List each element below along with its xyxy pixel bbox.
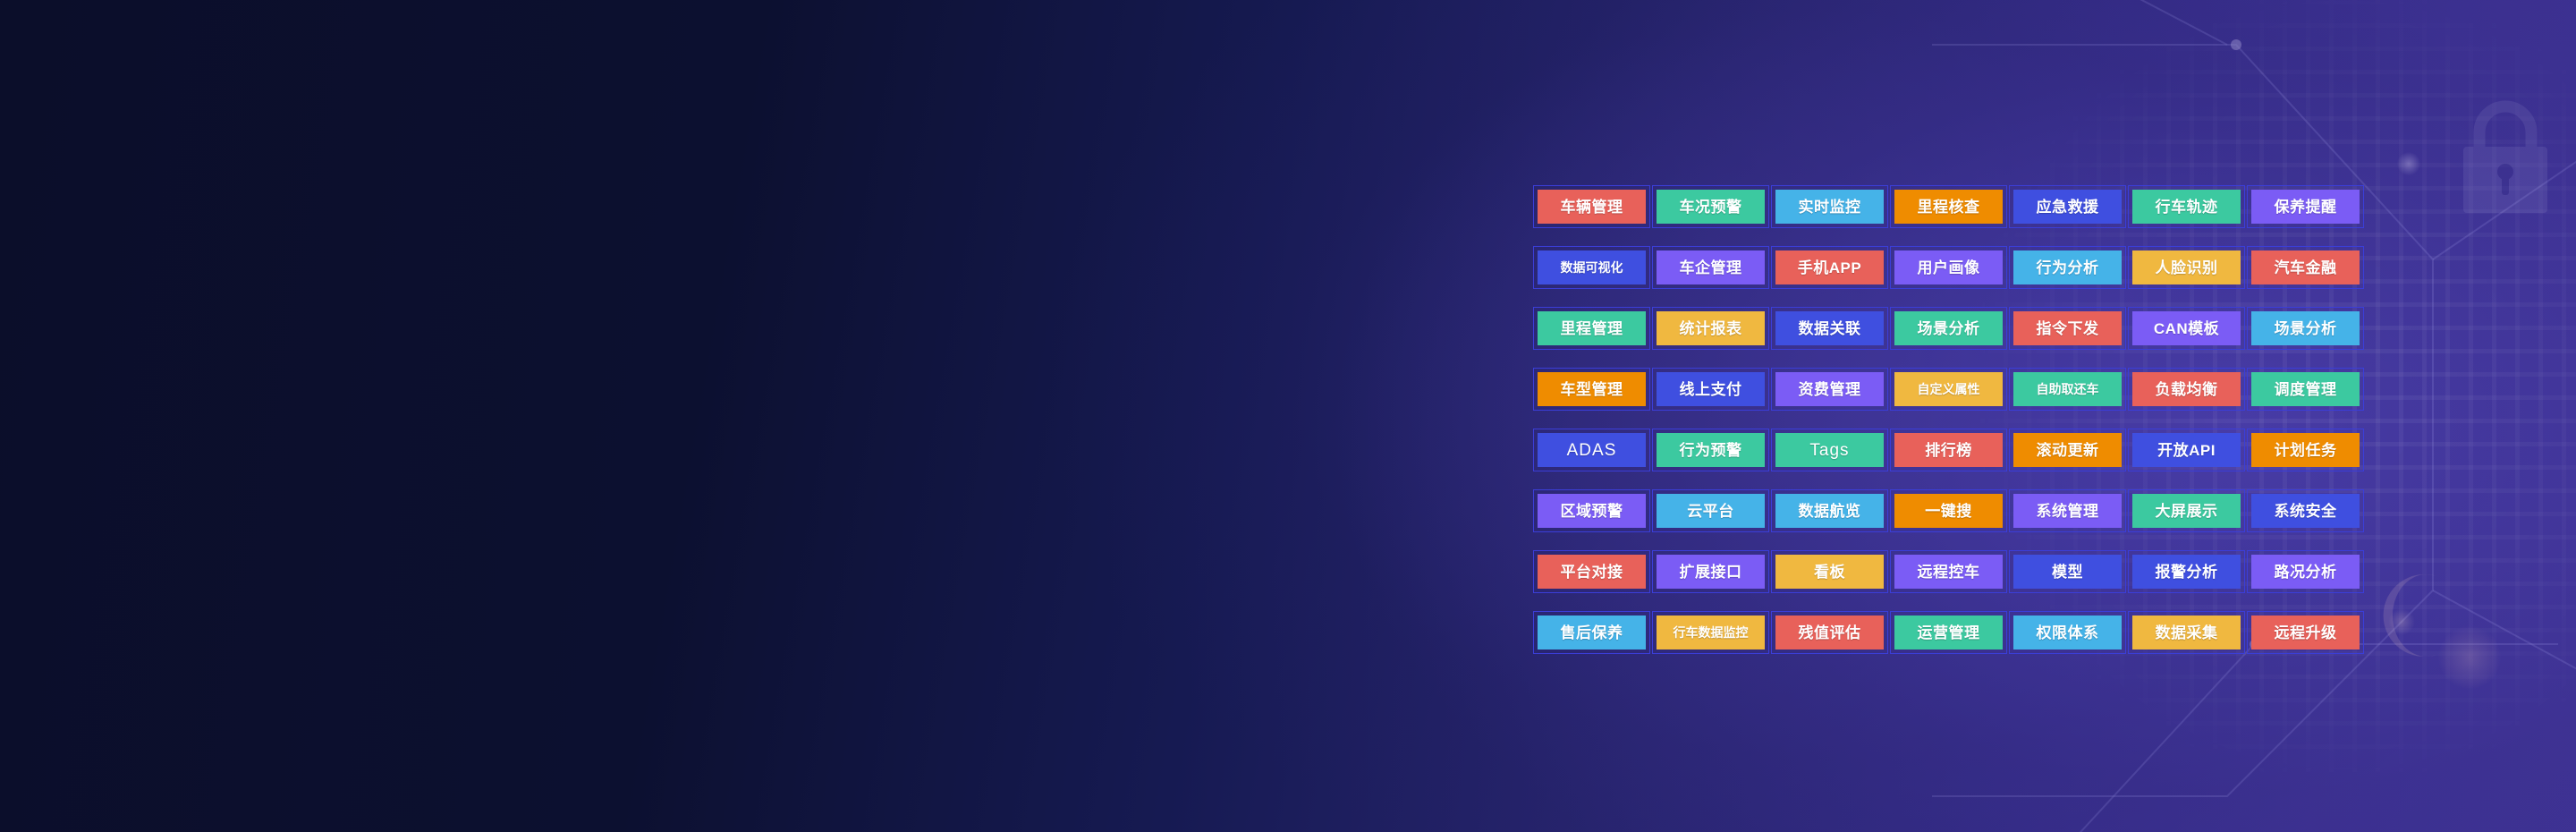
feature-tag[interactable]: 用户画像 [1890, 246, 2007, 289]
feature-tag-label: 应急救援 [2013, 190, 2122, 224]
feature-tag-label: 资费管理 [1775, 372, 1884, 406]
feature-tag[interactable]: 开放API [2128, 429, 2245, 471]
feature-tag[interactable]: 人脸识别 [2128, 246, 2245, 289]
feature-tag[interactable]: 行车数据监控 [1652, 611, 1769, 654]
feature-tag[interactable]: 车企管理 [1652, 246, 1769, 289]
feature-tag[interactable]: 系统安全 [2247, 489, 2364, 532]
feature-tag[interactable]: 扩展接口 [1652, 550, 1769, 593]
feature-tag[interactable]: 报警分析 [2128, 550, 2245, 593]
feature-tag-label: 行为预警 [1657, 433, 1765, 467]
feature-tag-label: 报警分析 [2132, 555, 2241, 589]
feature-tag-label: 数据关联 [1775, 311, 1884, 345]
feature-tag[interactable]: 指令下发 [2009, 307, 2126, 350]
feature-tag[interactable]: 一键搜 [1890, 489, 2007, 532]
feature-tag[interactable]: 行为预警 [1652, 429, 1769, 471]
feature-tag-label: 场景分析 [1894, 311, 2003, 345]
feature-tag[interactable]: 场景分析 [2247, 307, 2364, 350]
feature-tag-label: 平台对接 [1538, 555, 1646, 589]
feature-tag[interactable]: 系统管理 [2009, 489, 2126, 532]
feature-tag[interactable]: 负载均衡 [2128, 368, 2245, 411]
feature-tag-label: 计划任务 [2251, 433, 2360, 467]
feature-tag-label: 开放API [2132, 433, 2241, 467]
feature-tag[interactable]: 权限体系 [2009, 611, 2126, 654]
feature-tag-label: 大屏展示 [2132, 494, 2241, 528]
feature-tag[interactable]: 售后保养 [1533, 611, 1650, 654]
feature-tag[interactable]: 行车轨迹 [2128, 185, 2245, 228]
feature-tag-label: 场景分析 [2251, 311, 2360, 345]
feature-tag-label: 车辆管理 [1538, 190, 1646, 224]
feature-tag[interactable]: 看板 [1771, 550, 1888, 593]
glow-spot-small [2388, 608, 2415, 635]
feature-tag[interactable]: 场景分析 [1890, 307, 2007, 350]
feature-tag-label: 用户画像 [1894, 250, 2003, 284]
feature-tag[interactable]: 车辆管理 [1533, 185, 1650, 228]
feature-tag[interactable]: 实时监控 [1771, 185, 1888, 228]
feature-tag-label: 手机APP [1775, 250, 1884, 284]
feature-tag-label: 指令下发 [2013, 311, 2122, 345]
crescent-moon-icon [2381, 573, 2458, 658]
feature-tag-label: 数据采集 [2132, 616, 2241, 649]
feature-tag[interactable]: 区域预警 [1533, 489, 1650, 532]
feature-tag-label: CAN模板 [2132, 311, 2241, 345]
feature-tag[interactable]: 汽车金融 [2247, 246, 2364, 289]
feature-tag-label: 数据航览 [1775, 494, 1884, 528]
feature-tag[interactable]: 保养提醒 [2247, 185, 2364, 228]
feature-tag[interactable]: 资费管理 [1771, 368, 1888, 411]
feature-tag[interactable]: 调度管理 [2247, 368, 2364, 411]
feature-tag-label: 调度管理 [2251, 372, 2360, 406]
feature-tag[interactable]: 运营管理 [1890, 611, 2007, 654]
feature-tag-label: Tags [1775, 433, 1884, 467]
feature-tag-label: 售后保养 [1538, 616, 1646, 649]
feature-tag-label: 云平台 [1657, 494, 1765, 528]
feature-tag[interactable]: 行为分析 [2009, 246, 2126, 289]
feature-tag-label: 汽车金融 [2251, 250, 2360, 284]
feature-tag-label: 区域预警 [1538, 494, 1646, 528]
feature-tag-label: 自助取还车 [2013, 372, 2122, 406]
feature-tag[interactable]: CAN模板 [2128, 307, 2245, 350]
feature-tag[interactable]: 手机APP [1771, 246, 1888, 289]
feature-tag[interactable]: 远程升级 [2247, 611, 2364, 654]
feature-tag[interactable]: 计划任务 [2247, 429, 2364, 471]
feature-tag-label: 看板 [1775, 555, 1884, 589]
feature-tag-label: 里程核查 [1894, 190, 2003, 224]
feature-tag-label: 排行榜 [1894, 433, 2003, 467]
feature-tag-label: 一键搜 [1894, 494, 2003, 528]
feature-tag-label: 负载均衡 [2132, 372, 2241, 406]
feature-tag-label: 里程管理 [1538, 311, 1646, 345]
feature-tag[interactable]: 数据航览 [1771, 489, 1888, 532]
screen-canvas: 车辆管理车况预警实时监控里程核查应急救援行车轨迹保养提醒数据可视化车企管理手机A… [0, 0, 2576, 832]
feature-tag[interactable]: ADAS [1533, 429, 1650, 471]
feature-tag[interactable]: 数据采集 [2128, 611, 2245, 654]
feature-tag-label: 车企管理 [1657, 250, 1765, 284]
feature-tag-label: 扩展接口 [1657, 555, 1765, 589]
feature-tag[interactable]: 滚动更新 [2009, 429, 2126, 471]
feature-tag-label: 运营管理 [1894, 616, 2003, 649]
feature-tag[interactable]: 排行榜 [1890, 429, 2007, 471]
feature-tag[interactable]: 远程控车 [1890, 550, 2007, 593]
feature-tag-label: 系统安全 [2251, 494, 2360, 528]
feature-tag-label: 实时监控 [1775, 190, 1884, 224]
feature-tag-label: 系统管理 [2013, 494, 2122, 528]
feature-tag[interactable]: 里程管理 [1533, 307, 1650, 350]
feature-tag[interactable]: 里程核查 [1890, 185, 2007, 228]
feature-tag[interactable]: 应急救援 [2009, 185, 2126, 228]
feature-tag[interactable]: 模型 [2009, 550, 2126, 593]
feature-tag[interactable]: Tags [1771, 429, 1888, 471]
feature-tag[interactable]: 路况分析 [2247, 550, 2364, 593]
feature-tag[interactable]: 数据可视化 [1533, 246, 1650, 289]
feature-tag-label: 行车轨迹 [2132, 190, 2241, 224]
feature-tag-label: 车型管理 [1538, 372, 1646, 406]
feature-tag-label: 人脸识别 [2132, 250, 2241, 284]
lock-icon [2453, 93, 2558, 220]
feature-tag-label: 行车数据监控 [1657, 616, 1765, 649]
feature-tag-label: 远程控车 [1894, 555, 2003, 589]
glow-spot-top [2397, 152, 2420, 175]
feature-tag[interactable]: 自定义属性 [1890, 368, 2007, 411]
glow-spot-bottom [2438, 626, 2501, 689]
feature-tag-label: 车况预警 [1657, 190, 1765, 224]
feature-tag[interactable]: 大屏展示 [2128, 489, 2245, 532]
feature-tag[interactable]: 统计报表 [1652, 307, 1769, 350]
feature-tag-label: 保养提醒 [2251, 190, 2360, 224]
feature-tag[interactable]: 自助取还车 [2009, 368, 2126, 411]
feature-tag-label: 路况分析 [2251, 555, 2360, 589]
feature-tag-label: 模型 [2013, 555, 2122, 589]
feature-tag[interactable]: 数据关联 [1771, 307, 1888, 350]
feature-tag-label: 数据可视化 [1538, 250, 1646, 284]
feature-tag[interactable]: 车型管理 [1533, 368, 1650, 411]
feature-tag[interactable]: 云平台 [1652, 489, 1769, 532]
feature-tag-grid: 车辆管理车况预警实时监控里程核查应急救援行车轨迹保养提醒数据可视化车企管理手机A… [1533, 185, 2374, 654]
feature-tag-label: ADAS [1538, 433, 1646, 467]
feature-tag-label: 自定义属性 [1894, 372, 2003, 406]
feature-tag-label: 残值评估 [1775, 616, 1884, 649]
feature-tag[interactable]: 残值评估 [1771, 611, 1888, 654]
feature-tag[interactable]: 平台对接 [1533, 550, 1650, 593]
feature-tag[interactable]: 车况预警 [1652, 185, 1769, 228]
feature-tag-label: 权限体系 [2013, 616, 2122, 649]
feature-tag-label: 统计报表 [1657, 311, 1765, 345]
feature-tag-label: 滚动更新 [2013, 433, 2122, 467]
feature-tag[interactable]: 线上支付 [1652, 368, 1769, 411]
feature-tag-label: 行为分析 [2013, 250, 2122, 284]
feature-tag-label: 远程升级 [2251, 616, 2360, 649]
feature-tag-label: 线上支付 [1657, 372, 1765, 406]
